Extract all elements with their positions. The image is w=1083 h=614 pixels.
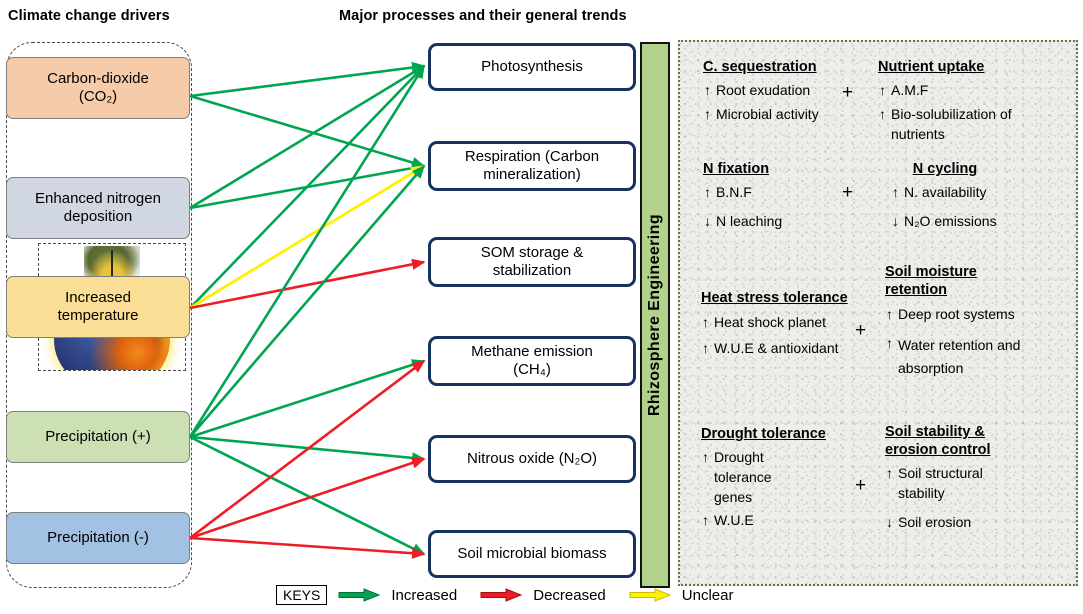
benefit-item-text: Soil erosion xyxy=(898,513,1055,533)
link-temperature-som-storage xyxy=(190,262,424,308)
benefit-item-text: Deep root systems xyxy=(898,305,1055,325)
benefit-item: ↑ Soil structural stability xyxy=(885,464,1005,504)
benefit-heading: Heat stress tolerance xyxy=(701,289,881,307)
benefit-item-text: Root exudation xyxy=(716,81,863,101)
driver-increased-temperature[interactable]: Increasedtemperature xyxy=(6,276,190,338)
trend-arrow-icon: ↓ xyxy=(703,212,712,230)
process-label: Methane emission(CH₄) xyxy=(471,343,593,379)
center-column-title: Major processes and their general trends xyxy=(339,8,627,24)
benefit-item-text: N₂O emissions xyxy=(904,212,1050,232)
benefit-heading: N cycling xyxy=(885,160,1005,178)
benefit-item: ↓ N leaching xyxy=(703,212,863,232)
benefit-item: ↑ N. availability xyxy=(885,183,1050,203)
benefit-group-n-fixation: N fixation ↑ B.N.F ↓ N leaching xyxy=(703,160,863,232)
rhizosphere-benefits-panel: C. sequestration ↑ Root exudation ↑ Micr… xyxy=(678,40,1078,586)
increased-arrow-icon xyxy=(337,588,381,602)
benefit-heading: Soil moisture retention xyxy=(885,263,1010,299)
benefit-item: ↑ Water retention and absorption xyxy=(885,334,1055,379)
driver-label: Increasedtemperature xyxy=(58,289,139,324)
trend-arrow-icon: ↓ xyxy=(885,513,894,531)
benefit-group-c-sequestration: C. sequestration ↑ Root exudation ↑ Micr… xyxy=(703,58,863,125)
link-precip-minus-nitrous-oxide xyxy=(190,459,424,538)
process-label: Nitrous oxide (N₂O) xyxy=(467,450,597,468)
benefit-group-nutrient-uptake: Nutrient uptake ↑ A.M.F ↑ Bio-solubiliza… xyxy=(878,58,1043,145)
key-entry-decreased: Decreased xyxy=(469,587,606,604)
key-entry-increased: Increased xyxy=(327,587,457,604)
benefit-item-text: Water retention and absorption xyxy=(898,334,1055,379)
driver-label: Carbon-dioxide(CO₂) xyxy=(47,70,149,105)
benefit-item-text: Drought tolerance genes xyxy=(714,448,811,508)
trend-arrow-icon: ↑ xyxy=(885,334,894,352)
benefit-item-text: N. availability xyxy=(904,183,1050,203)
driver-enhanced-nitrogen-deposition[interactable]: Enhanced nitrogendeposition xyxy=(6,177,190,239)
benefit-item: ↑ W.U.E & antioxidant xyxy=(701,339,881,359)
process-methane-emission[interactable]: Methane emission(CH₄) xyxy=(428,336,636,386)
driver-precipitation-plus[interactable]: Precipitation (+) xyxy=(6,411,190,463)
left-column-title: Climate change drivers xyxy=(8,8,170,24)
benefit-group-drought-tolerance: Drought tolerance ↑ Drought tolerance ge… xyxy=(701,425,861,531)
link-precip-minus-soil-microbial-biomass xyxy=(190,538,424,554)
trend-arrow-icon: ↑ xyxy=(703,81,712,99)
rhizosphere-engineering-label: Rhizosphere Engineering xyxy=(646,214,664,416)
process-nitrous-oxide[interactable]: Nitrous oxide (N₂O) xyxy=(428,435,636,483)
process-label: Photosynthesis xyxy=(481,58,583,76)
process-photosynthesis[interactable]: Photosynthesis xyxy=(428,43,636,91)
benefit-item-text: B.N.F xyxy=(716,183,863,203)
benefit-item: ↑ W.U.E xyxy=(701,511,861,531)
benefit-item-text: Bio-solubilization of nutrients xyxy=(891,105,1043,145)
keys-badge: KEYS xyxy=(276,585,327,605)
benefit-group-heat-stress-tolerance: Heat stress tolerance ↑ Heat shock plane… xyxy=(701,289,881,359)
benefit-item: ↑ Microbial activity xyxy=(703,105,863,125)
benefit-item-text: Microbial activity xyxy=(716,105,863,125)
driver-precipitation-minus[interactable]: Precipitation (-) xyxy=(6,512,190,564)
trend-arrow-icon: ↑ xyxy=(701,313,710,331)
link-temperature-photosynthesis xyxy=(190,66,424,308)
key-entry-unclear: Unclear xyxy=(618,587,734,604)
trend-arrow-icon: ↑ xyxy=(885,305,894,323)
trend-arrow-icon: ↑ xyxy=(878,105,887,123)
trend-arrow-icon: ↑ xyxy=(701,448,710,466)
process-soil-microbial-biomass[interactable]: Soil microbial biomass xyxy=(428,530,636,578)
driver-label: Precipitation (+) xyxy=(45,428,150,446)
unclear-arrow-icon xyxy=(628,588,672,602)
benefit-item-text: Soil structural stability xyxy=(898,464,1005,504)
driver-label: Precipitation (-) xyxy=(47,529,149,547)
benefit-item: ↑ Root exudation xyxy=(703,81,863,101)
link-nitrogen-photosynthesis xyxy=(190,66,424,208)
rhizosphere-engineering-bar: Rhizosphere Engineering xyxy=(640,42,670,588)
benefit-item: ↓ N₂O emissions xyxy=(885,212,1050,232)
link-precip-minus-methane xyxy=(190,361,424,538)
plus-sign-2: + xyxy=(842,182,853,204)
trend-arrow-icon: ↑ xyxy=(701,511,710,529)
driver-carbon-dioxide[interactable]: Carbon-dioxide(CO₂) xyxy=(6,57,190,119)
benefit-item: ↑ Deep root systems xyxy=(885,305,1055,325)
process-som-storage[interactable]: SOM storage &stabilization xyxy=(428,237,636,287)
trend-arrow-icon: ↑ xyxy=(703,183,712,201)
process-label: SOM storage &stabilization xyxy=(481,244,584,280)
trend-arrow-icon: ↑ xyxy=(878,81,887,99)
link-precip-plus-respiration xyxy=(190,166,424,437)
benefit-group-soil-moisture-retention: Soil moisture retention ↑ Deep root syst… xyxy=(885,263,1055,379)
process-label: Soil microbial biomass xyxy=(457,545,606,563)
benefit-heading: N fixation xyxy=(703,160,863,178)
benefit-item: ↓ Soil erosion xyxy=(885,513,1055,533)
key-label: Unclear xyxy=(682,587,734,604)
benefit-item-text: N leaching xyxy=(716,212,863,232)
link-precip-plus-nitrous-oxide xyxy=(190,437,424,459)
trend-arrow-icon: ↑ xyxy=(885,464,894,482)
link-carbon-dioxide-photosynthesis xyxy=(190,66,424,96)
driver-label: Enhanced nitrogendeposition xyxy=(35,190,161,225)
key-label: Decreased xyxy=(533,587,606,604)
benefit-heading: Soil stability & erosion control xyxy=(885,423,1015,459)
link-temperature-respiration xyxy=(190,166,424,308)
link-precip-plus-soil-microbial-biomass xyxy=(190,437,424,554)
key-label: Increased xyxy=(391,587,457,604)
process-label: Respiration (Carbonmineralization) xyxy=(465,148,599,184)
benefit-item-text: A.M.F xyxy=(891,81,1043,101)
plus-sign-3: + xyxy=(855,320,866,342)
benefit-item: ↑ Bio-solubilization of nutrients xyxy=(878,105,1043,145)
plus-sign-4: + xyxy=(855,475,866,497)
decreased-arrow-icon xyxy=(479,588,523,602)
trend-arrow-icon: ↑ xyxy=(891,183,900,201)
benefit-item-text: W.U.E xyxy=(714,511,861,531)
link-nitrogen-respiration xyxy=(190,166,424,208)
benefit-item: ↑ Drought tolerance genes xyxy=(701,448,811,508)
link-precip-plus-methane xyxy=(190,361,424,437)
process-respiration[interactable]: Respiration (Carbonmineralization) xyxy=(428,141,636,191)
trend-arrow-icon: ↑ xyxy=(703,105,712,123)
link-precip-plus-photosynthesis xyxy=(190,66,424,437)
benefit-heading: Drought tolerance xyxy=(701,425,861,443)
plus-sign-1: + xyxy=(842,82,853,104)
benefit-item: ↑ Heat shock planet xyxy=(701,313,881,333)
benefit-heading: C. sequestration xyxy=(703,58,863,76)
trend-arrow-icon: ↑ xyxy=(701,339,710,357)
benefit-group-n-cycling: N cycling ↑ N. availability ↓ N₂O emissi… xyxy=(885,160,1050,232)
benefit-group-soil-stability-erosion-control: Soil stability & erosion control ↑ Soil … xyxy=(885,423,1055,533)
benefit-item: ↑ A.M.F xyxy=(878,81,1043,101)
benefit-item: ↑ B.N.F xyxy=(703,183,863,203)
benefit-heading: Nutrient uptake xyxy=(878,58,1043,76)
trend-arrow-icon: ↓ xyxy=(891,212,900,230)
link-carbon-dioxide-respiration xyxy=(190,96,424,166)
